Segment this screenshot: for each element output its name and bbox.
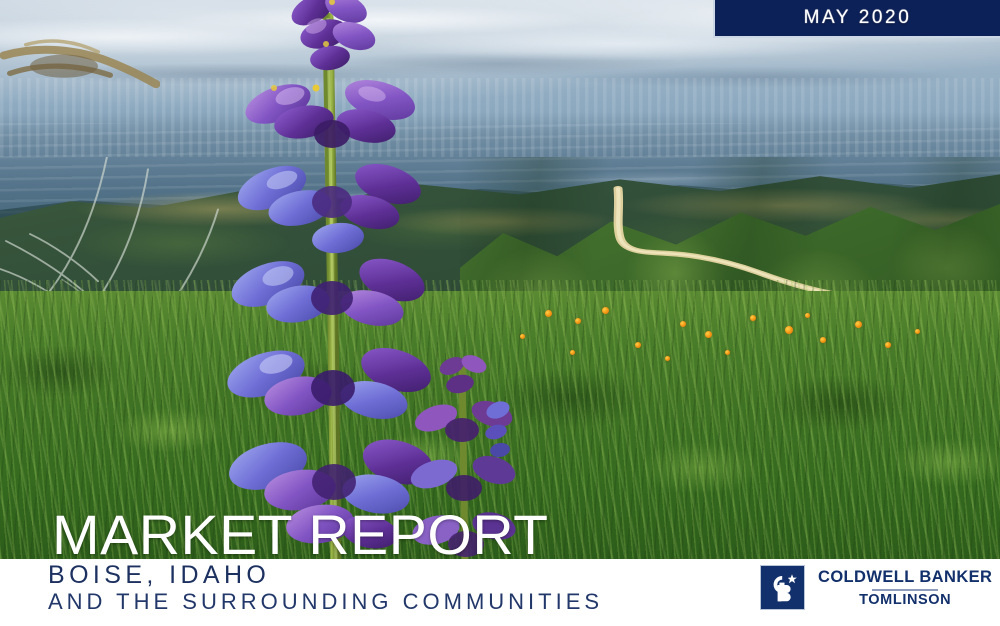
report-cover-page: MAY 2020 MARKET REPORT BOISE, IDAHO AND …: [0, 0, 1000, 626]
page-subtitle-communities: AND THE SURROUNDING COMMUNITIES: [48, 589, 603, 615]
photo-penstemon-small-bloom: [486, 392, 520, 462]
hero-photo: [0, 0, 1000, 559]
brand-logo-text: COLDWELL BANKER TOMLINSON: [818, 568, 992, 608]
date-banner-label: MAY 2020: [804, 7, 912, 29]
brand-logo[interactable]: COLDWELL BANKER TOMLINSON: [760, 565, 992, 610]
page-subtitle-location: BOISE, IDAHO: [48, 561, 270, 590]
coldwell-banker-cb-star-monogram-icon: [760, 565, 805, 610]
brand-logo-divider: [872, 589, 938, 591]
brand-name-affiliate: TOMLINSON: [859, 592, 951, 608]
page-title: MARKET REPORT: [52, 509, 548, 561]
brand-name-primary: COLDWELL BANKER: [818, 568, 992, 587]
photo-region-driftwood: [0, 0, 160, 89]
date-banner: MAY 2020: [713, 0, 1000, 38]
